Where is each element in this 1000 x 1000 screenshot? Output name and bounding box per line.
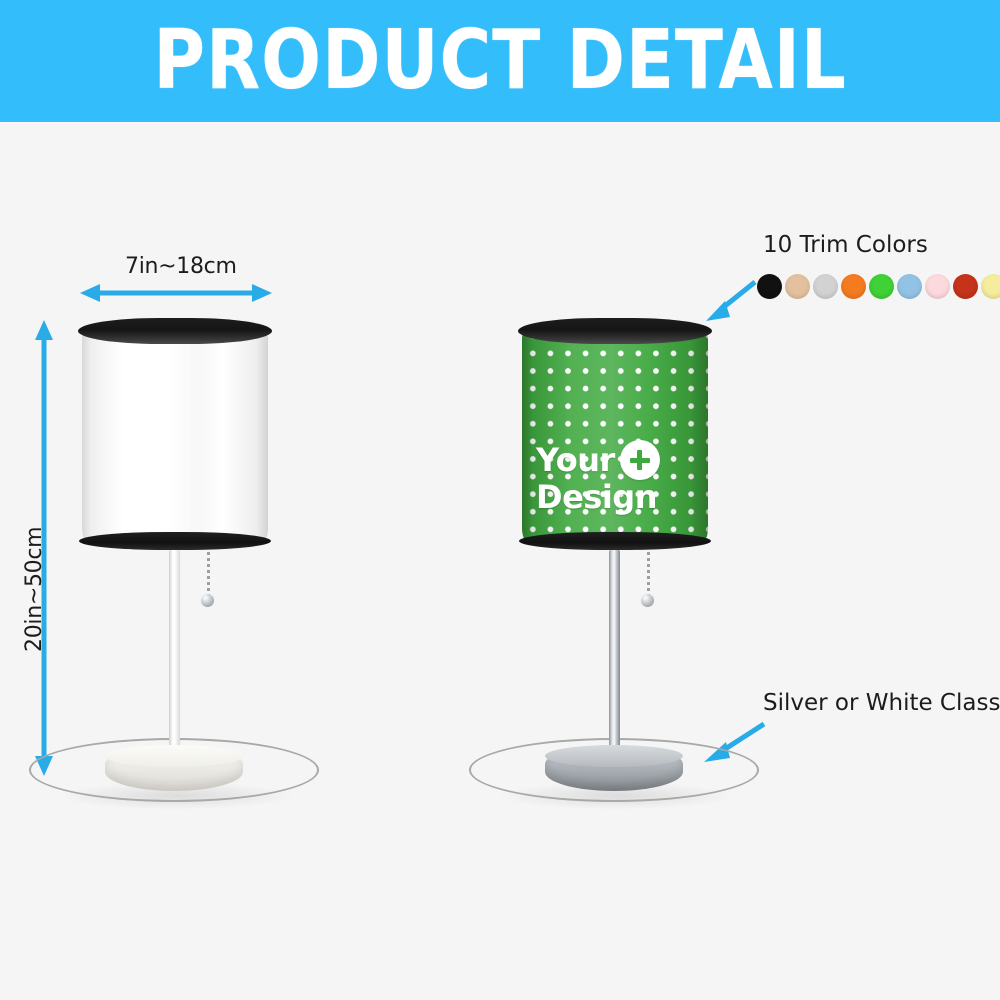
green-lamp-trim-top — [518, 318, 712, 344]
page-title: PRODUCT DETAIL — [153, 20, 846, 102]
green-lamp-shade: Your Design — [522, 318, 708, 550]
trim-swatch-orange[interactable] — [841, 274, 866, 299]
header-banner: PRODUCT DETAIL — [0, 0, 1000, 122]
trim-swatch-green[interactable] — [869, 274, 894, 299]
product-illustration-stage: Your Design 7in~18cm 20in~50cm 10 Trim C… — [0, 122, 1000, 1000]
plus-circle-icon — [620, 440, 660, 480]
trim-swatch-tan[interactable] — [785, 274, 810, 299]
your-design-line2-row: Design — [536, 482, 660, 512]
your-design-line1: Your — [536, 445, 615, 475]
green-lamp-pull-chain-ball[interactable] — [641, 594, 654, 607]
trim-swatch-pink[interactable] — [925, 274, 950, 299]
green-lamp-pull-chain[interactable] — [647, 552, 650, 597]
green-lamp-base — [545, 745, 683, 791]
trim-color-swatches — [757, 274, 1000, 299]
white-lamp-pull-chain-ball[interactable] — [201, 594, 214, 607]
white-lamp-base-top — [105, 745, 243, 767]
trim-swatch-light-gray[interactable] — [813, 274, 838, 299]
white-lamp-shade-body — [82, 326, 268, 542]
white-lamp-pole — [169, 550, 180, 765]
white-lamp-shade — [82, 318, 268, 550]
double-arrow-vertical-icon — [33, 320, 55, 776]
trim-swatch-black[interactable] — [757, 274, 782, 299]
trim-swatch-red[interactable] — [953, 274, 978, 299]
trim-colors-label: 10 Trim Colors — [763, 232, 928, 258]
your-design-line1-row: Your — [536, 440, 660, 480]
double-arrow-horizontal-icon — [80, 282, 272, 304]
trim-colors-pointer-arrow-icon — [700, 277, 760, 325]
green-lamp-trim-bottom — [519, 532, 711, 550]
your-design-line2: Design — [536, 482, 657, 512]
trim-swatch-light-blue[interactable] — [897, 274, 922, 299]
base-finish-label: Silver or White Classy — [763, 690, 1000, 716]
green-lamp-pole — [609, 550, 620, 765]
width-dimension-label: 7in~18cm — [125, 254, 237, 279]
trim-swatch-pale-yellow[interactable] — [981, 274, 1000, 299]
your-design-artwork: Your Design — [536, 440, 660, 512]
white-lamp-pull-chain[interactable] — [207, 552, 210, 597]
white-lamp-trim-bottom — [79, 532, 271, 550]
white-lamp-base — [105, 745, 243, 791]
white-lamp-trim-top — [78, 318, 272, 344]
green-lamp-base-top — [545, 745, 683, 767]
